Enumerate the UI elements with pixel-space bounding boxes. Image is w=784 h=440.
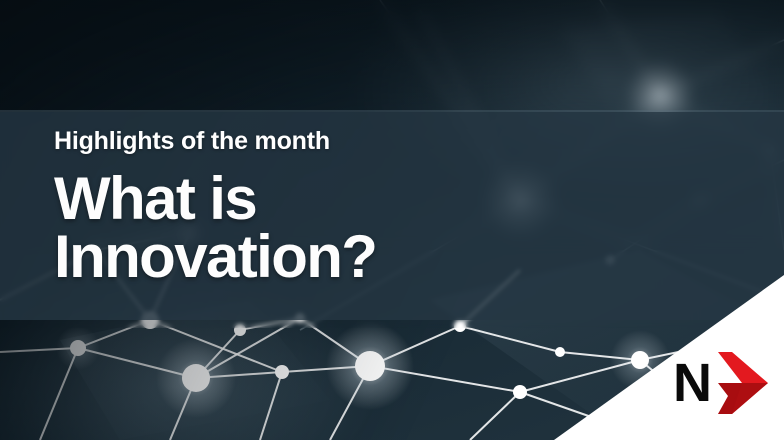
headline-line-1: What is: [54, 170, 524, 228]
red-chevron-arrow-icon: [712, 352, 770, 414]
innovation-highlight-banner: Highlights of the month What is Innovati…: [0, 0, 784, 440]
brand-logo[interactable]: N: [673, 352, 770, 414]
banner-text-block: Highlights of the month What is Innovati…: [54, 128, 524, 286]
page-title: What is Innovation?: [54, 170, 524, 286]
headline-line-2: Innovation?: [54, 228, 524, 286]
banner-eyebrow: Highlights of the month: [54, 128, 524, 156]
logo-letter-n: N: [673, 356, 710, 410]
